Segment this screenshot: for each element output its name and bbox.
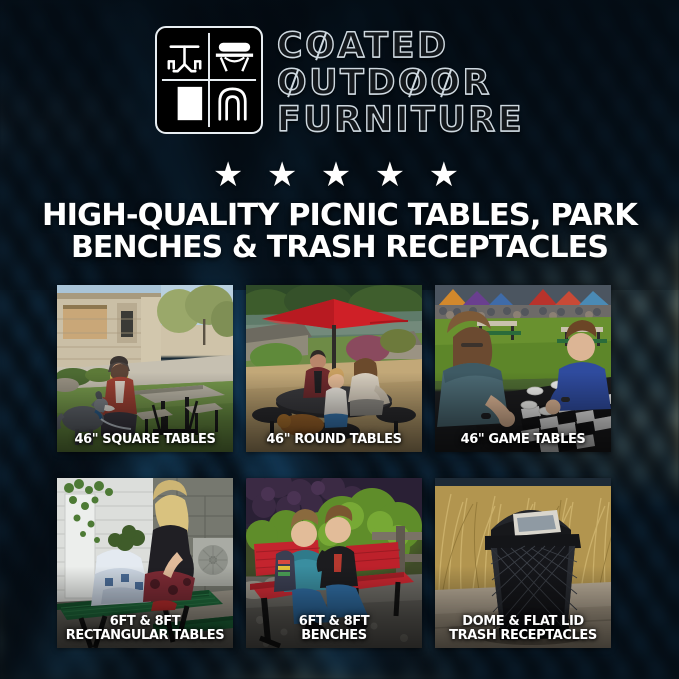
product-grid: 46" SQUARE TABLES [57, 285, 623, 648]
tile-label: 46" ROUND TABLES [249, 433, 419, 447]
tile-label-line-1: 46" ROUND TABLES [266, 432, 401, 447]
tile-label-line-2: TRASH RECEPTACLES [438, 629, 608, 643]
product-tile-46-square-tables[interactable]: 46" SQUARE TABLES [57, 285, 233, 452]
brand-lockup: COATED OUTDOOR FURNITURE [0, 26, 679, 138]
headline-line-1: HIGH-QUALITY PICNIC TABLES, PARK [26, 200, 653, 232]
brand-word-coated: COATED [277, 28, 449, 64]
brand-wordmark: COATED OUTDOOR FURNITURE [277, 26, 524, 138]
five-star-rating: ★ ★ ★ ★ ★ [0, 158, 679, 192]
tile-label: DOME & FLAT LID TRASH RECEPTACLES [438, 615, 608, 643]
tile-label-line-1: 46" SQUARE TABLES [75, 432, 216, 447]
product-tile-rectangular-tables[interactable]: 6FT & 8FT RECTANGULAR TABLES [57, 478, 233, 648]
tile-label-line-2: RECTANGULAR TABLES [60, 629, 230, 643]
product-tile-trash-receptacles[interactable]: DOME & FLAT LID TRASH RECEPTACLES [435, 478, 611, 648]
tile-label: 46" GAME TABLES [438, 433, 608, 447]
tile-label: 46" SQUARE TABLES [60, 433, 230, 447]
brand-word-furniture: FURNITURE [277, 102, 524, 138]
brand-word-outdoor: OUTDOOR [277, 65, 492, 101]
product-tile-benches[interactable]: 6FT & 8FT BENCHES [246, 478, 422, 648]
trash-receptacle-icon [178, 88, 201, 119]
tile-label-line-1: 46" GAME TABLES [461, 432, 586, 447]
logo-mark [155, 26, 263, 134]
tile-label-line-2: BENCHES [249, 629, 419, 643]
product-tile-46-round-tables[interactable]: 46" ROUND TABLES [246, 285, 422, 452]
product-tile-46-game-tables[interactable]: 46" GAME TABLES [435, 285, 611, 452]
tile-label: 6FT & 8FT RECTANGULAR TABLES [60, 615, 230, 643]
tile-label-line-1: DOME & FLAT LID [462, 614, 584, 629]
tile-label-line-1: 6FT & 8FT [110, 614, 180, 629]
page-title: HIGH-QUALITY PICNIC TABLES, PARK BENCHES… [26, 200, 653, 264]
advertisement-banner: COATED OUTDOOR FURNITURE ★ ★ ★ ★ ★ HIGH-… [0, 0, 679, 679]
tile-label-line-1: 6FT & 8FT [299, 614, 369, 629]
tile-label: 6FT & 8FT BENCHES [249, 615, 419, 643]
headline-line-2: BENCHES & TRASH RECEPTACLES [26, 232, 653, 264]
